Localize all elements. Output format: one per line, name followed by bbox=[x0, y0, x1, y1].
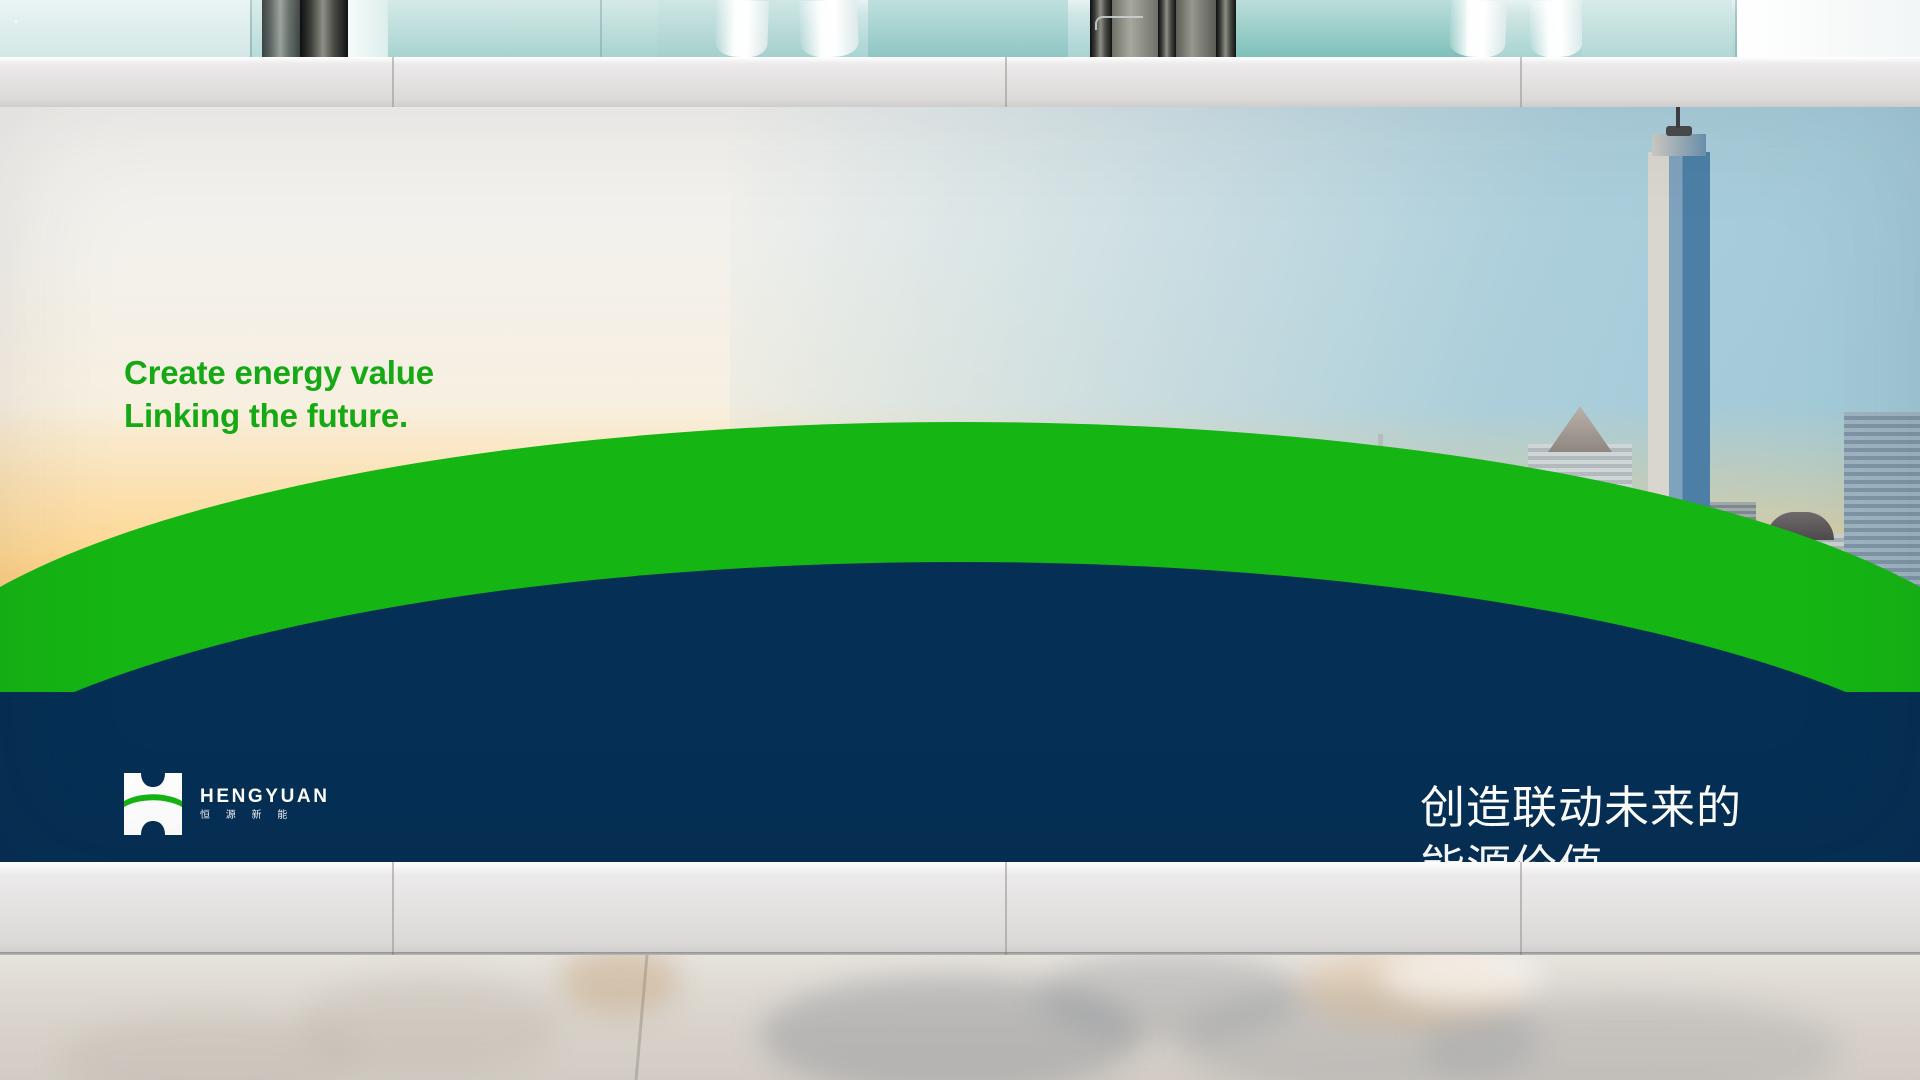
glass-facade-band: • bbox=[0, 0, 1920, 57]
glass-mullion bbox=[262, 0, 300, 57]
ledge-seam bbox=[1520, 57, 1522, 107]
billboard-panel: Create energy value Linking the future. … bbox=[0, 107, 1920, 862]
glass-seam bbox=[600, 0, 602, 57]
wall-return bbox=[1737, 0, 1920, 57]
white-column bbox=[1529, 0, 1583, 57]
ledge-seam bbox=[1005, 862, 1007, 955]
concrete-ledge-upper bbox=[0, 57, 1920, 107]
ledge-seam bbox=[392, 862, 394, 955]
dark-structural-post bbox=[1176, 0, 1216, 57]
glass-panel bbox=[1236, 0, 1466, 57]
metal-hook bbox=[1095, 16, 1143, 30]
ledge-seam bbox=[1005, 57, 1007, 107]
wordmark-latin: HENGYUAN bbox=[200, 787, 330, 806]
white-column bbox=[1449, 0, 1508, 57]
wordmark-chinese: 恒 源 新 能 bbox=[200, 811, 330, 821]
concrete-ledge-lower bbox=[0, 862, 1920, 955]
owtc-spire bbox=[1676, 107, 1680, 128]
billboard-mockup-scene: • bbox=[0, 0, 1920, 1080]
hengyuan-h-monogram-icon bbox=[124, 773, 182, 835]
headline-line-2: Linking the future. bbox=[124, 395, 434, 438]
glass-panel bbox=[0, 0, 250, 57]
glass-panel bbox=[388, 0, 658, 57]
hengyuan-logo-lockup: HENGYUAN 恒 源 新 能 bbox=[124, 773, 330, 835]
dark-structural-post bbox=[1158, 0, 1176, 57]
concrete-floor bbox=[0, 955, 1920, 1080]
headline-english: Create energy value Linking the future. bbox=[124, 352, 434, 438]
headline-line-1: Create energy value bbox=[124, 352, 434, 395]
white-column bbox=[715, 0, 769, 57]
headline-cn-line-1: 创造联动未来的 bbox=[1420, 779, 1920, 838]
white-column bbox=[799, 0, 859, 57]
dark-structural-post bbox=[1216, 0, 1236, 57]
glass-panel bbox=[868, 0, 1068, 57]
hengyuan-wordmark: HENGYUAN 恒 源 新 能 bbox=[200, 787, 330, 821]
headline-cn-line-2: 能源价值 bbox=[1420, 838, 1920, 863]
floor-stain bbox=[560, 955, 680, 1015]
glass-mullion bbox=[300, 0, 348, 57]
ledge-seam bbox=[1520, 862, 1522, 955]
glass-panel bbox=[348, 0, 388, 57]
owtc-parapet bbox=[1652, 134, 1706, 156]
glass-panel bbox=[1582, 0, 1732, 57]
ledge-seam bbox=[392, 57, 394, 107]
headline-chinese: 创造联动未来的 能源价值 bbox=[1420, 779, 1920, 862]
